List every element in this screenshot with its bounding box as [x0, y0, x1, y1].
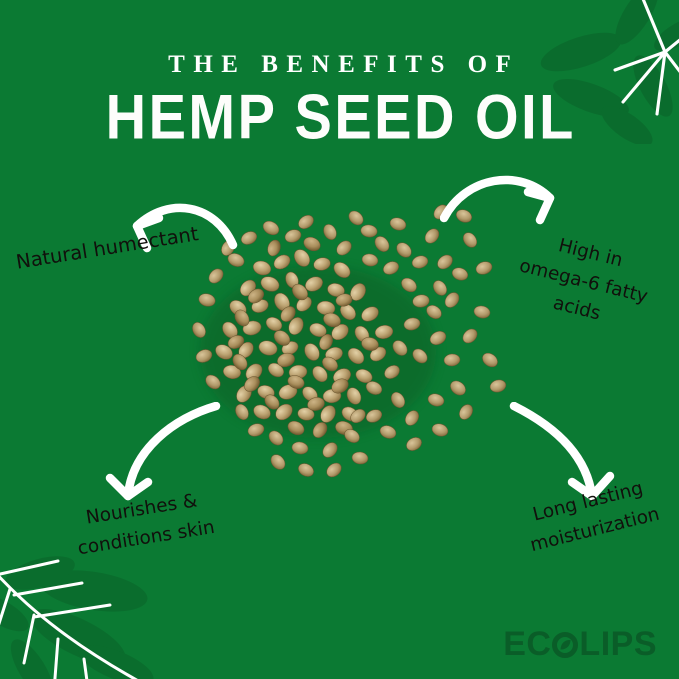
heading-block: THE BENEFITS OF HEMP SEED OIL: [0, 52, 679, 145]
callout-natural-humectant: Natural humectant: [14, 219, 201, 278]
brand-logo: ECLIPS: [503, 627, 657, 661]
brand-logo-text-after: LIPS: [579, 627, 657, 661]
callout-long-lasting: Long lasting moisturization: [507, 469, 676, 563]
eyebrow-title: THE BENEFITS OF: [0, 52, 679, 77]
poster-canvas: THE BENEFITS OF HEMP SEED OIL: [0, 0, 679, 679]
brand-logo-text: ECLIPS: [503, 627, 657, 661]
leaf-o-icon: [552, 630, 578, 656]
callout-nourishes-skin: Nourishes & conditions skin: [58, 483, 230, 565]
callout-omega-6: High in omega-6 fatty acids: [500, 222, 666, 342]
curved-arrow-up-right-icon: [440, 162, 580, 238]
brand-logo-text-before: EC: [503, 627, 551, 661]
page-title: HEMP SEED OIL: [0, 86, 679, 149]
